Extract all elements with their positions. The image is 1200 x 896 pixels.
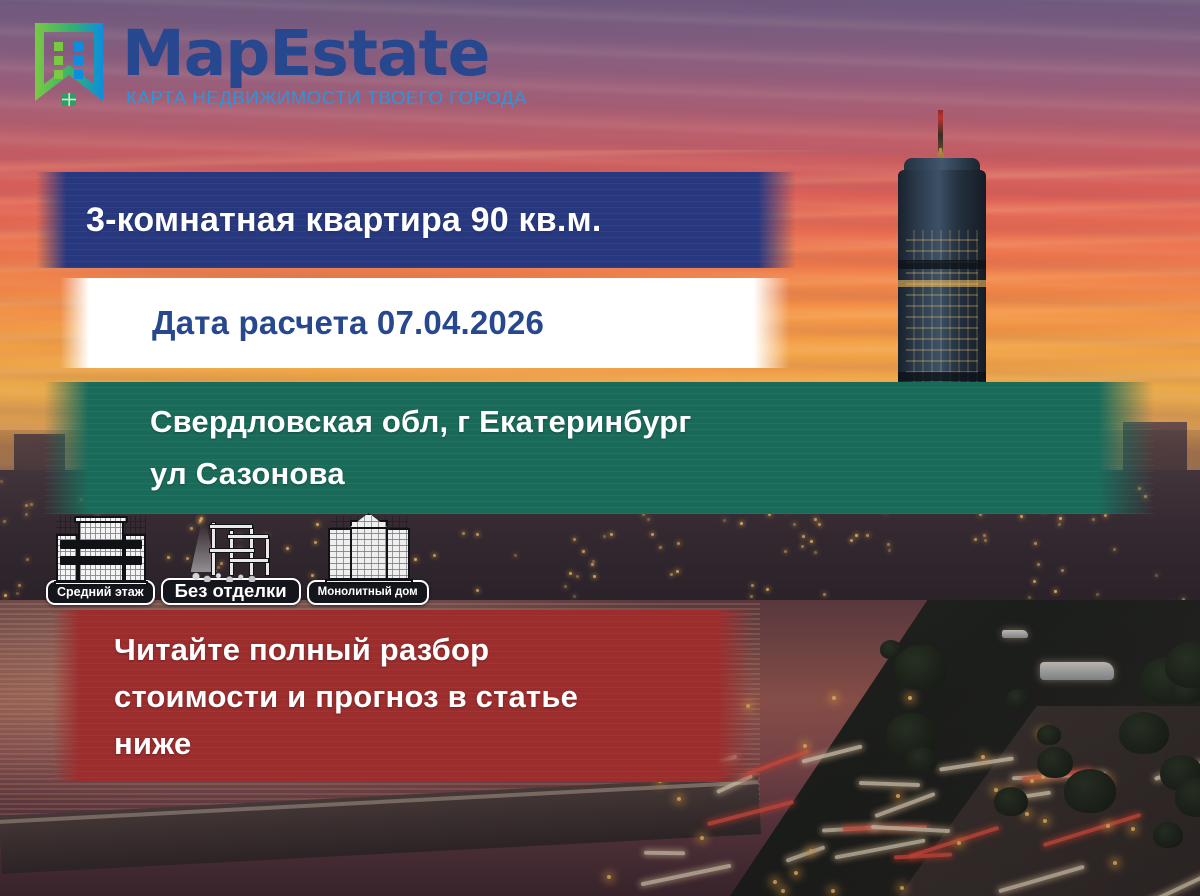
bookmark-building-icon [30,20,108,108]
unfinished-construction-icon [181,512,281,584]
brand-tagline: КАРТА НЕДВИЖИМОСТИ ТВОЕГО ГОРОДА [126,87,527,109]
feature-badges: Средний этаж Без отделки [46,512,429,605]
mid-floor-building-icon [50,514,150,586]
brand-name-part-2: Estate [269,17,489,90]
monolithic-house-icon [318,514,418,586]
feature-badge-monolithic[interactable]: Монолитный дом [307,514,429,605]
feature-badge-unfinished[interactable]: Без отделки [161,512,301,605]
address-text: Свердловская обл, г Екатеринбург ул Сазо… [44,396,1154,500]
address-banner: Свердловская обл, г Екатеринбург ул Сазо… [44,382,1154,514]
apartment-title-banner: 3-комнатная квартира 90 кв.м. [36,172,796,268]
calculation-date-text: Дата расчета 07.04.2026 [60,304,790,342]
cta-line-2: стоимости и прогноз в статье [114,673,752,720]
brand-logo[interactable]: MapEstate КАРТА НЕДВИЖИМОСТИ ТВОЕГО ГОРО… [30,20,527,109]
cta-line-1: Читайте полный разбор [114,626,752,673]
calculation-date-banner: Дата расчета 07.04.2026 [60,278,790,368]
apartment-title-text: 3-комнатная квартира 90 кв.м. [36,200,796,240]
tower-band [898,372,986,381]
brand-name-part-1: Map [122,17,269,90]
promo-card: MapEstate КАРТА НЕДВИЖИМОСТИ ТВОЕГО ГОРО… [0,0,1200,896]
cta-text: Читайте полный разбор стоимости и прогно… [52,626,752,767]
tower-band [898,260,986,269]
cta-banner[interactable]: Читайте полный разбор стоимости и прогно… [52,610,752,782]
tower-lit-band [898,280,986,287]
cta-line-3: ниже [114,720,752,767]
address-line-2: ул Сазонова [150,448,1154,500]
address-line-1: Свердловская обл, г Екатеринбург [150,396,1154,448]
brand-name: MapEstate [122,22,527,86]
feature-badge-mid-floor[interactable]: Средний этаж [46,514,155,605]
